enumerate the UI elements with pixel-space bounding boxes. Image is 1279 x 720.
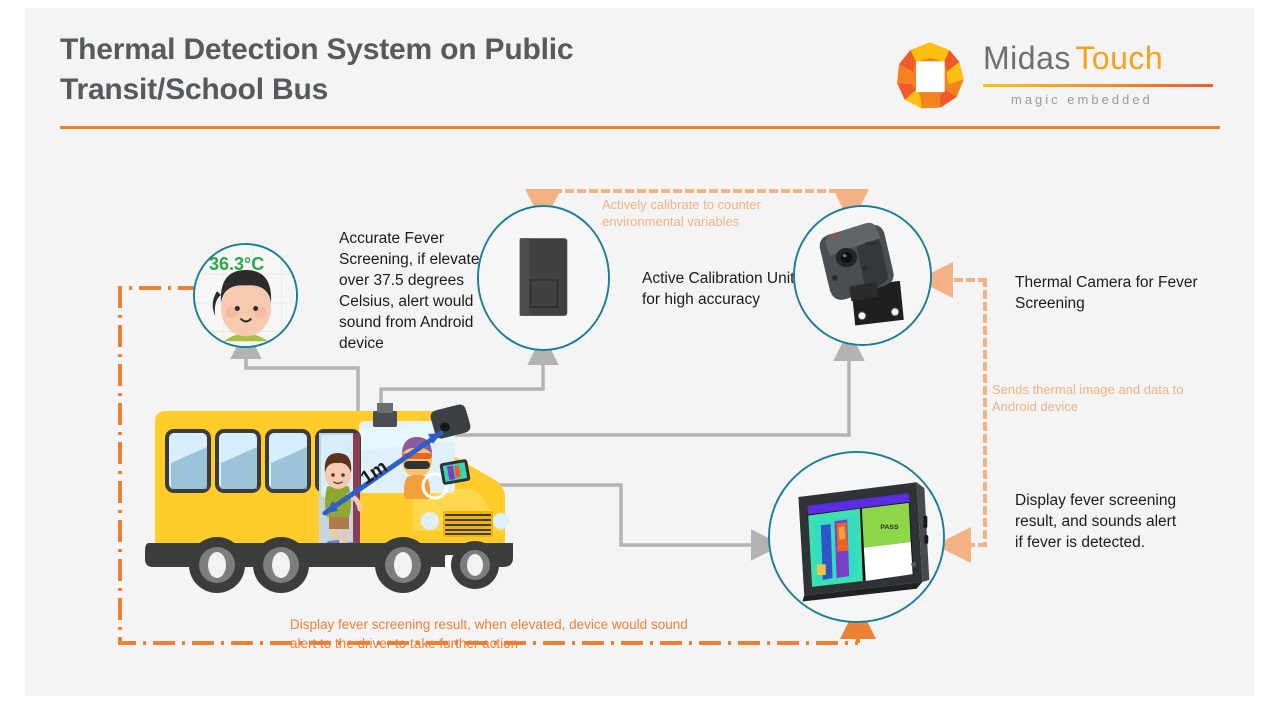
callout-circle-camera[interactable]: [793, 205, 932, 346]
callout-circle-tablet[interactable]: PASS: [768, 451, 945, 623]
bus-driver: [402, 437, 432, 499]
calibration-note-text: Actively calibrate to counter environmen…: [602, 196, 832, 230]
slide-canvas: Thermal Detection System on Public Trans…: [25, 8, 1254, 696]
dotted-camera-to-tablet: [937, 280, 985, 545]
camera-callout-label: Thermal Camera for Fever Screening: [1015, 272, 1200, 314]
tablet-screen-status: PASS: [880, 524, 899, 531]
calibration-callout-label: Active Calibration Unit for high accurac…: [642, 268, 807, 310]
driver-note-text: Display fever screening result, when ele…: [290, 615, 690, 653]
callout-circle-calibration[interactable]: [477, 205, 610, 351]
tablet-callout-label: Display fever screening result, and soun…: [1015, 490, 1183, 553]
calibration-unit-illustration: [479, 207, 608, 349]
thermal-camera-illustration: [795, 207, 930, 344]
temperature-reading: 36.3°C: [209, 254, 264, 275]
camera-note-text: Sends thermal image and data to Android …: [992, 381, 1187, 415]
school-bus-illustration: 1m: [145, 403, 565, 603]
android-tablet-illustration: PASS: [770, 453, 943, 621]
